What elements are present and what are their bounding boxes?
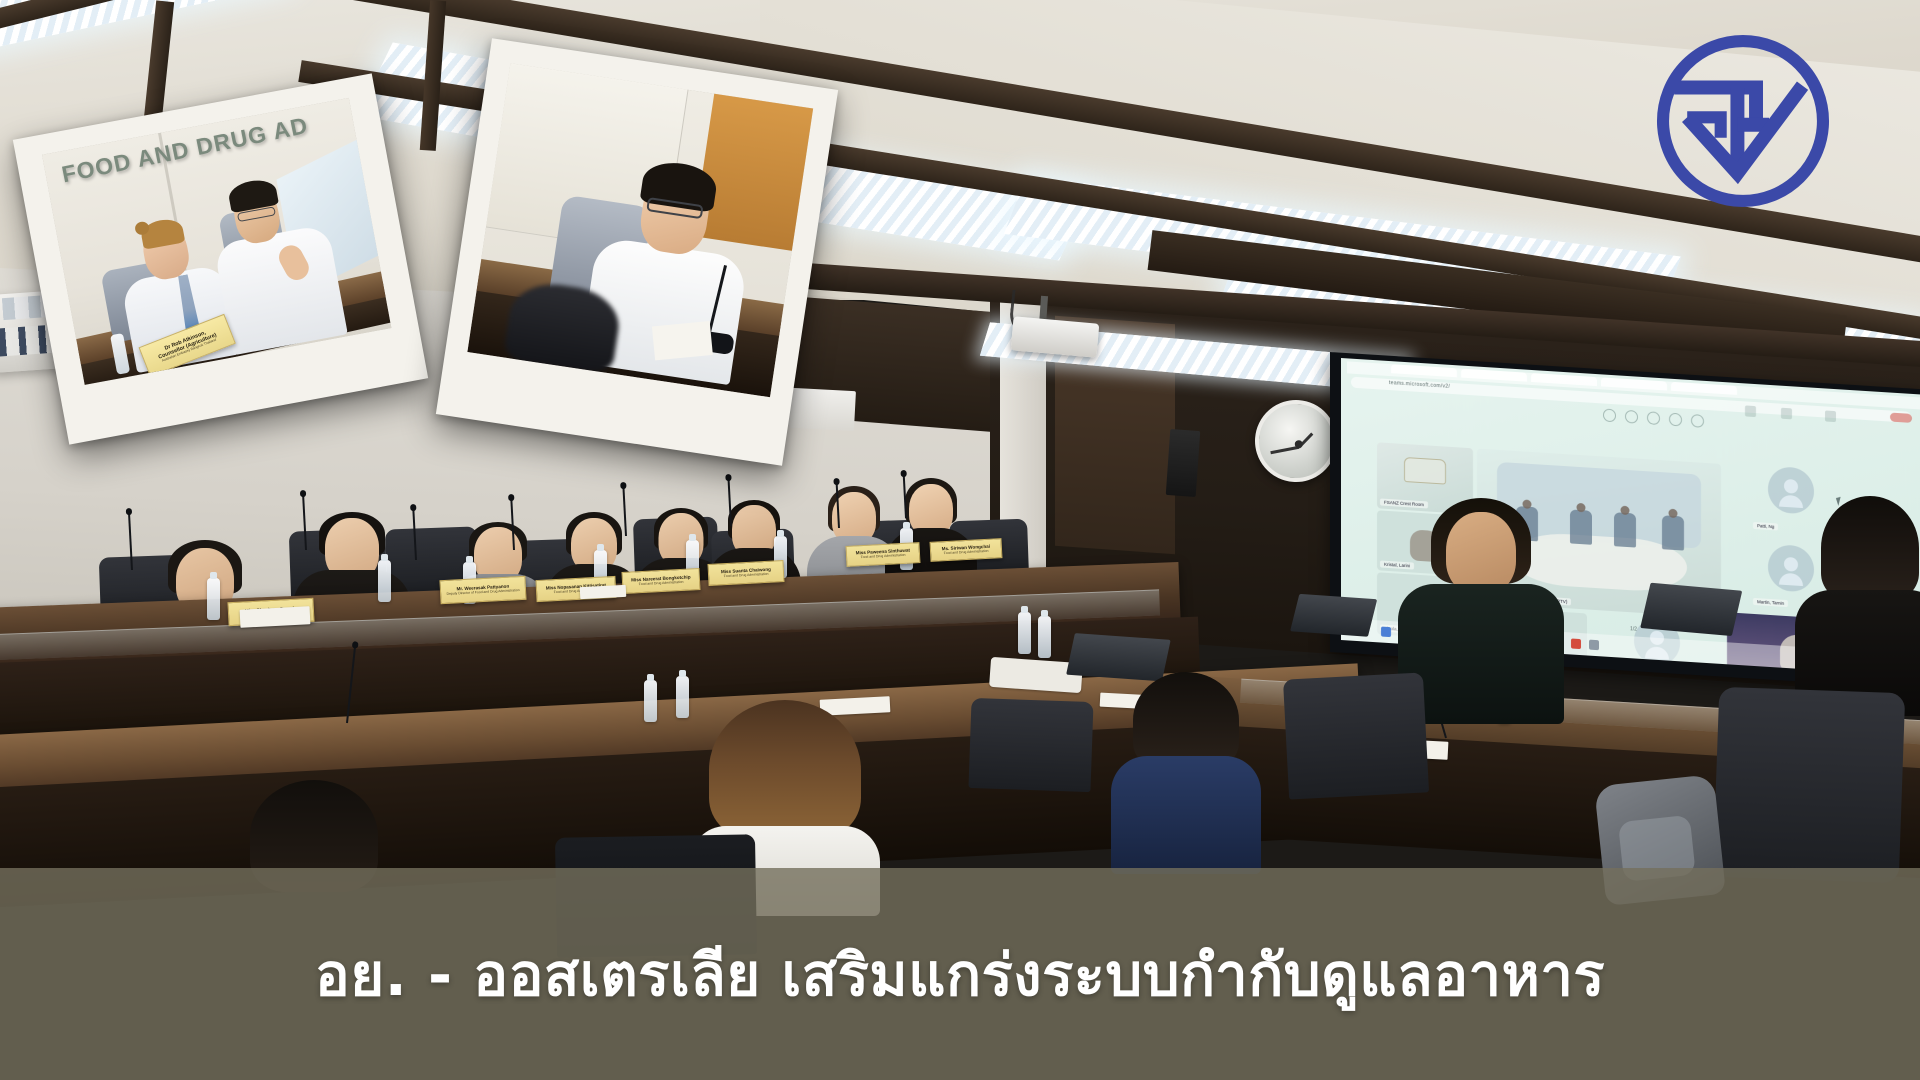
title-banner: อย. - ออสเตรเลีย เสริมแกร่งระบบกำกับดูแล… [0,868,1920,1080]
water-bottle [676,676,689,718]
participant-name: Kristal, Larini [1380,560,1414,569]
water-bottle [1038,616,1051,658]
taskbar-icon[interactable] [1381,627,1391,638]
photo-wood-panel [693,88,813,252]
laptop[interactable] [1640,583,1742,636]
chat-icon[interactable] [1625,410,1638,424]
polaroid-left-image: FOOD AND DRUG AD Dr Rob Atkinson, Counse… [42,98,391,385]
taskbar-icon[interactable] [1589,640,1599,651]
people-icon[interactable] [1603,408,1616,422]
paper-document [240,606,311,628]
chair [1713,687,1906,883]
nameplate-role: Food and Drug Administration [724,572,769,578]
photo-paper-document [652,321,713,360]
table-nameplate: Ms. Siriwan Wongchai Food and Drug Admin… [930,538,1003,562]
tile-person [1614,513,1636,548]
water-bottle [644,680,657,722]
taskbar-icon[interactable] [1571,638,1581,649]
tile-person [1570,510,1592,545]
polaroid-right-image [467,63,813,397]
paper-document [580,585,627,599]
clock-center [1295,440,1304,449]
water-bottle [207,578,220,620]
screenshot-root: teams.microsoft.com/v2/ FSANZ Crest Room… [0,0,1920,1080]
wall-speaker [1166,429,1201,497]
nameplate-role: Food and Drug Administration [944,549,989,555]
chair [968,698,1093,792]
leave-call-button[interactable] [1890,413,1912,423]
tile-pager[interactable]: 1/2 [1630,626,1637,632]
meeting-participant-foreground [1126,672,1246,862]
meeting-participant-foreground [1416,498,1546,708]
mic-icon[interactable] [1781,408,1792,420]
table-nameplate: Miss Suanta Chaiwong Food and Drug Admin… [707,560,784,586]
participant-name: Martin, Tarnin [1753,598,1788,607]
avatar [1768,544,1814,593]
photo-person-body [213,224,347,355]
tile-person [1662,516,1684,551]
more-icon[interactable] [1691,414,1704,428]
tile-crest [1404,457,1446,485]
table-nameplate: Miss Nareerat Bongkotchip Food and Drug … [621,568,700,594]
react-icon[interactable] [1647,411,1660,425]
water-bottle [378,560,391,602]
view-icon[interactable] [1669,413,1682,427]
avatar [1768,466,1814,515]
share-icon[interactable] [1825,410,1836,422]
nameplate-role: Food and Drug Administration [861,554,906,560]
polaroid-photo-left: FOOD AND DRUG AD Dr Rob Atkinson, Counse… [13,73,428,444]
chair [1283,672,1429,799]
water-bottle [1018,612,1031,654]
banner-title-text: อย. - ออสเตรเลีย เสริมแกร่งระบบกำกับดูแล… [315,928,1605,1021]
meeting-participant-foreground [1810,496,1920,696]
table-nameplate: Miss Paweena Sinthuwat Food and Drug Adm… [846,542,921,567]
thai-fda-logo [1650,28,1836,214]
nameplate-role: Food and Drug Administration [639,580,684,586]
participant-name: Patti, Ng [1753,522,1778,531]
laptop[interactable] [1290,594,1377,637]
polaroid-photo-right [436,38,838,466]
table-nameplate: Mr. Weerasak Pattyanon Deputy Director o… [439,576,526,604]
camera-icon[interactable] [1745,405,1756,417]
